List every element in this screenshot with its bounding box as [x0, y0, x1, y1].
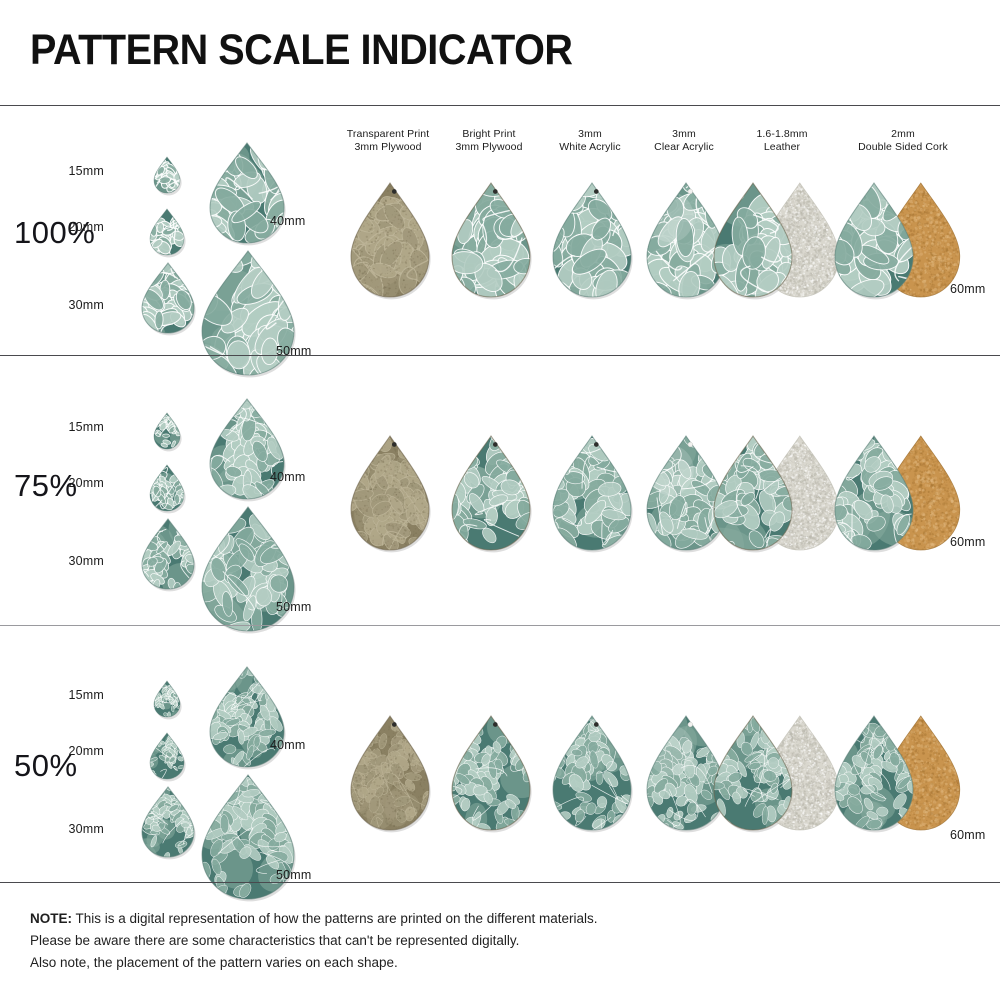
footer-note: NOTE: This is a digital representation o…: [30, 908, 598, 974]
material-size-label-100: 60mm: [950, 282, 986, 296]
note-text-1: This is a digital representation of how …: [72, 911, 598, 926]
preview-drop-50mm-50: [200, 772, 298, 904]
size-label-30mm-100: 30mm: [56, 298, 104, 312]
preview-drop-30mm-75: [140, 516, 198, 594]
column-header-double-sided-cork: 2mmDouble Sided Cork: [838, 128, 968, 154]
preview-drop-20mm-50: [148, 730, 188, 784]
divider-row-100: [0, 355, 1000, 356]
note-label: NOTE:: [30, 911, 72, 926]
column-header-leather: 1.6-1.8mmLeather: [717, 128, 847, 154]
preview-drop-20mm-75: [148, 462, 188, 516]
size-label-50mm-75: 50mm: [276, 600, 312, 614]
size-label-40mm-100: 40mm: [270, 214, 306, 228]
column-header-line2: Leather: [717, 141, 847, 154]
size-label-15mm-75: 15mm: [56, 420, 104, 434]
size-label-15mm-100: 15mm: [56, 164, 104, 178]
size-label-15mm-50: 15mm: [56, 688, 104, 702]
size-label-20mm-100: 20mm: [56, 220, 104, 234]
preview-drop-50mm-75: [200, 504, 298, 636]
material-drop-bright-print-plywood-50: [450, 713, 534, 835]
material-drop-bright-print-plywood-100: [450, 180, 534, 302]
preview-drop-30mm-50: [140, 784, 198, 862]
size-label-50mm-50: 50mm: [276, 868, 312, 882]
divider-below-title: [0, 105, 1000, 106]
size-label-40mm-75: 40mm: [270, 470, 306, 484]
material-drop-transparent-print-plywood-100: [349, 180, 433, 302]
pattern-scale-indicator-sheet: PATTERN SCALE INDICATOR Transparent Prin…: [0, 0, 1000, 1000]
preview-drop-20mm-100: [148, 206, 188, 260]
material-drop-double-sided-cork-75: [833, 433, 965, 555]
preview-drop-40mm-100: [208, 140, 288, 248]
column-header-line1: 1.6-1.8mm: [717, 128, 847, 141]
note-line-3: Also note, the placement of the pattern …: [30, 952, 598, 974]
size-label-30mm-50: 30mm: [56, 822, 104, 836]
material-drop-white-acrylic-100: [551, 180, 635, 302]
note-line-1: NOTE: This is a digital representation o…: [30, 908, 598, 930]
material-drop-leather-100: [712, 180, 844, 302]
material-size-label-75: 60mm: [950, 535, 986, 549]
material-size-label-50: 60mm: [950, 828, 986, 842]
column-header-line2: Double Sided Cork: [838, 141, 968, 154]
preview-drop-50mm-100: [200, 248, 298, 380]
material-drop-leather-50: [712, 713, 844, 835]
preview-drop-30mm-100: [140, 260, 198, 338]
material-drop-transparent-print-plywood-75: [349, 433, 433, 555]
material-drop-double-sided-cork-50: [833, 713, 965, 835]
page-title: PATTERN SCALE INDICATOR: [30, 26, 573, 75]
preview-drop-15mm-75: [152, 410, 184, 454]
preview-drop-40mm-75: [208, 396, 288, 504]
material-drop-transparent-print-plywood-50: [349, 713, 433, 835]
size-label-30mm-75: 30mm: [56, 554, 104, 568]
material-drop-white-acrylic-75: [551, 433, 635, 555]
size-label-40mm-50: 40mm: [270, 738, 306, 752]
size-label-20mm-75: 20mm: [56, 476, 104, 490]
preview-drop-15mm-50: [152, 678, 184, 722]
material-drop-double-sided-cork-100: [833, 180, 965, 302]
column-header-line1: 2mm: [838, 128, 968, 141]
divider-row-75: [0, 625, 1000, 626]
note-line-2: Please be aware there are some character…: [30, 930, 598, 952]
size-label-20mm-50: 20mm: [56, 744, 104, 758]
material-drop-white-acrylic-50: [551, 713, 635, 835]
material-drop-leather-75: [712, 433, 844, 555]
divider-row-50: [0, 882, 1000, 883]
preview-drop-15mm-100: [152, 154, 184, 198]
preview-drop-40mm-50: [208, 664, 288, 772]
material-drop-bright-print-plywood-75: [450, 433, 534, 555]
